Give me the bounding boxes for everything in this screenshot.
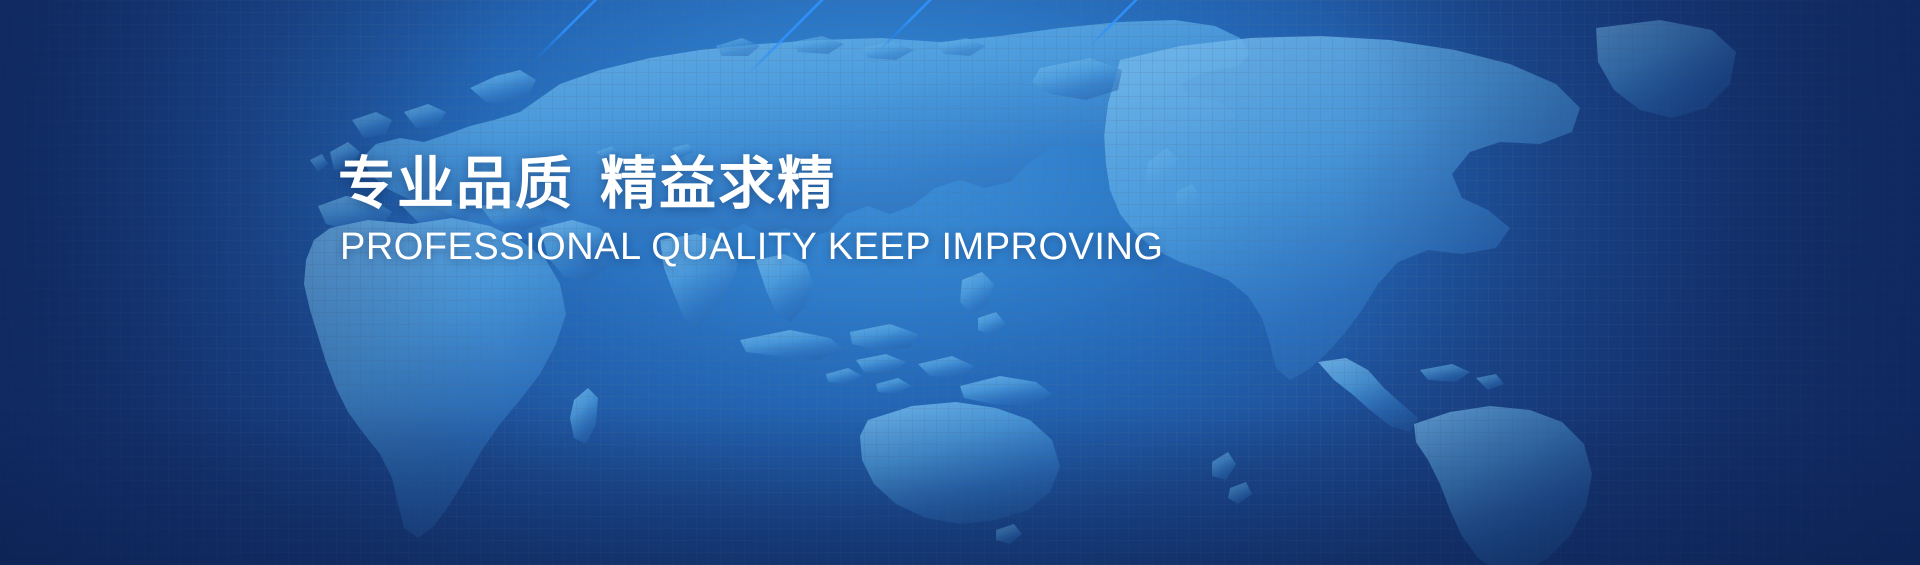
- left-edge-fade: [0, 0, 1920, 565]
- banner-headline-cn: 专业品质精益求精: [338, 155, 1163, 215]
- headline-cn-part-1: 专业品质: [338, 152, 574, 216]
- grid-mesh-light: [0, 0, 1920, 565]
- right-edge-fade: [0, 0, 1920, 565]
- vignette-overlay: [0, 0, 1920, 565]
- world-map-graphic: [0, 0, 1920, 565]
- background-gradient: [0, 0, 1920, 565]
- bottom-edge-fade: [0, 0, 1920, 565]
- streak-4: [1090, 0, 1180, 46]
- grid-mesh-dark: [0, 0, 1920, 565]
- streak-1: [533, 0, 660, 62]
- streak-2: [748, 0, 880, 74]
- streak-3: [878, 0, 1000, 52]
- banner-copy: 专业品质精益求精 PROFESSIONAL QUALITY KEEP IMPRO…: [338, 155, 1163, 269]
- headline-cn-part-2: 精益求精: [600, 152, 836, 216]
- banner-subheadline-en: PROFESSIONAL QUALITY KEEP IMPROVING: [340, 227, 1163, 269]
- hero-banner: 专业品质精益求精 PROFESSIONAL QUALITY KEEP IMPRO…: [0, 0, 1920, 565]
- light-streaks: [0, 0, 1920, 565]
